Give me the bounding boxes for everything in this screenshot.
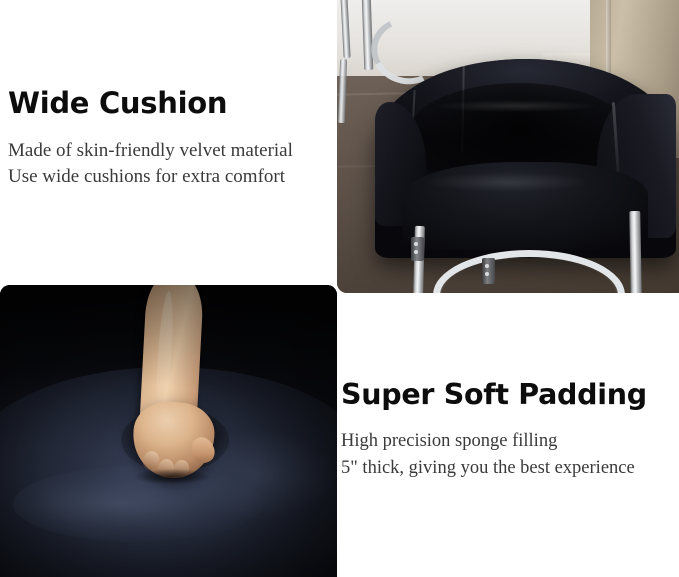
seat-mount-bracket xyxy=(411,237,424,261)
feature-line-super-soft-padding-2: 5" thick, giving you the best experience xyxy=(341,455,677,482)
product-feature-collage: Wide Cushion Made of skin-friendly velve… xyxy=(0,0,679,577)
chair-seat-highlight xyxy=(423,172,592,192)
cushion-photo xyxy=(0,285,337,577)
feature-line-wide-cushion-1: Made of skin-friendly velvet material xyxy=(8,138,330,164)
feature-block-wide-cushion: Wide Cushion Made of skin-friendly velve… xyxy=(8,86,330,190)
feature-line-wide-cushion-2: Use wide cushions for extra comfort xyxy=(8,164,330,190)
photo-vignette xyxy=(0,285,337,577)
chair-scene xyxy=(337,0,679,293)
cushion-scene xyxy=(0,285,337,577)
feature-heading-super-soft-padding: Super Soft Padding xyxy=(341,378,677,412)
feature-line-super-soft-padding-1: High precision sponge filling xyxy=(341,428,677,455)
chair-photo xyxy=(337,0,679,293)
feature-block-super-soft-padding: Super Soft Padding High precision sponge… xyxy=(341,378,677,482)
footring-bracket xyxy=(482,258,495,284)
chrome-right-leg xyxy=(630,211,642,293)
chrome-frame-post xyxy=(361,0,373,70)
feature-heading-wide-cushion: Wide Cushion xyxy=(8,86,330,120)
